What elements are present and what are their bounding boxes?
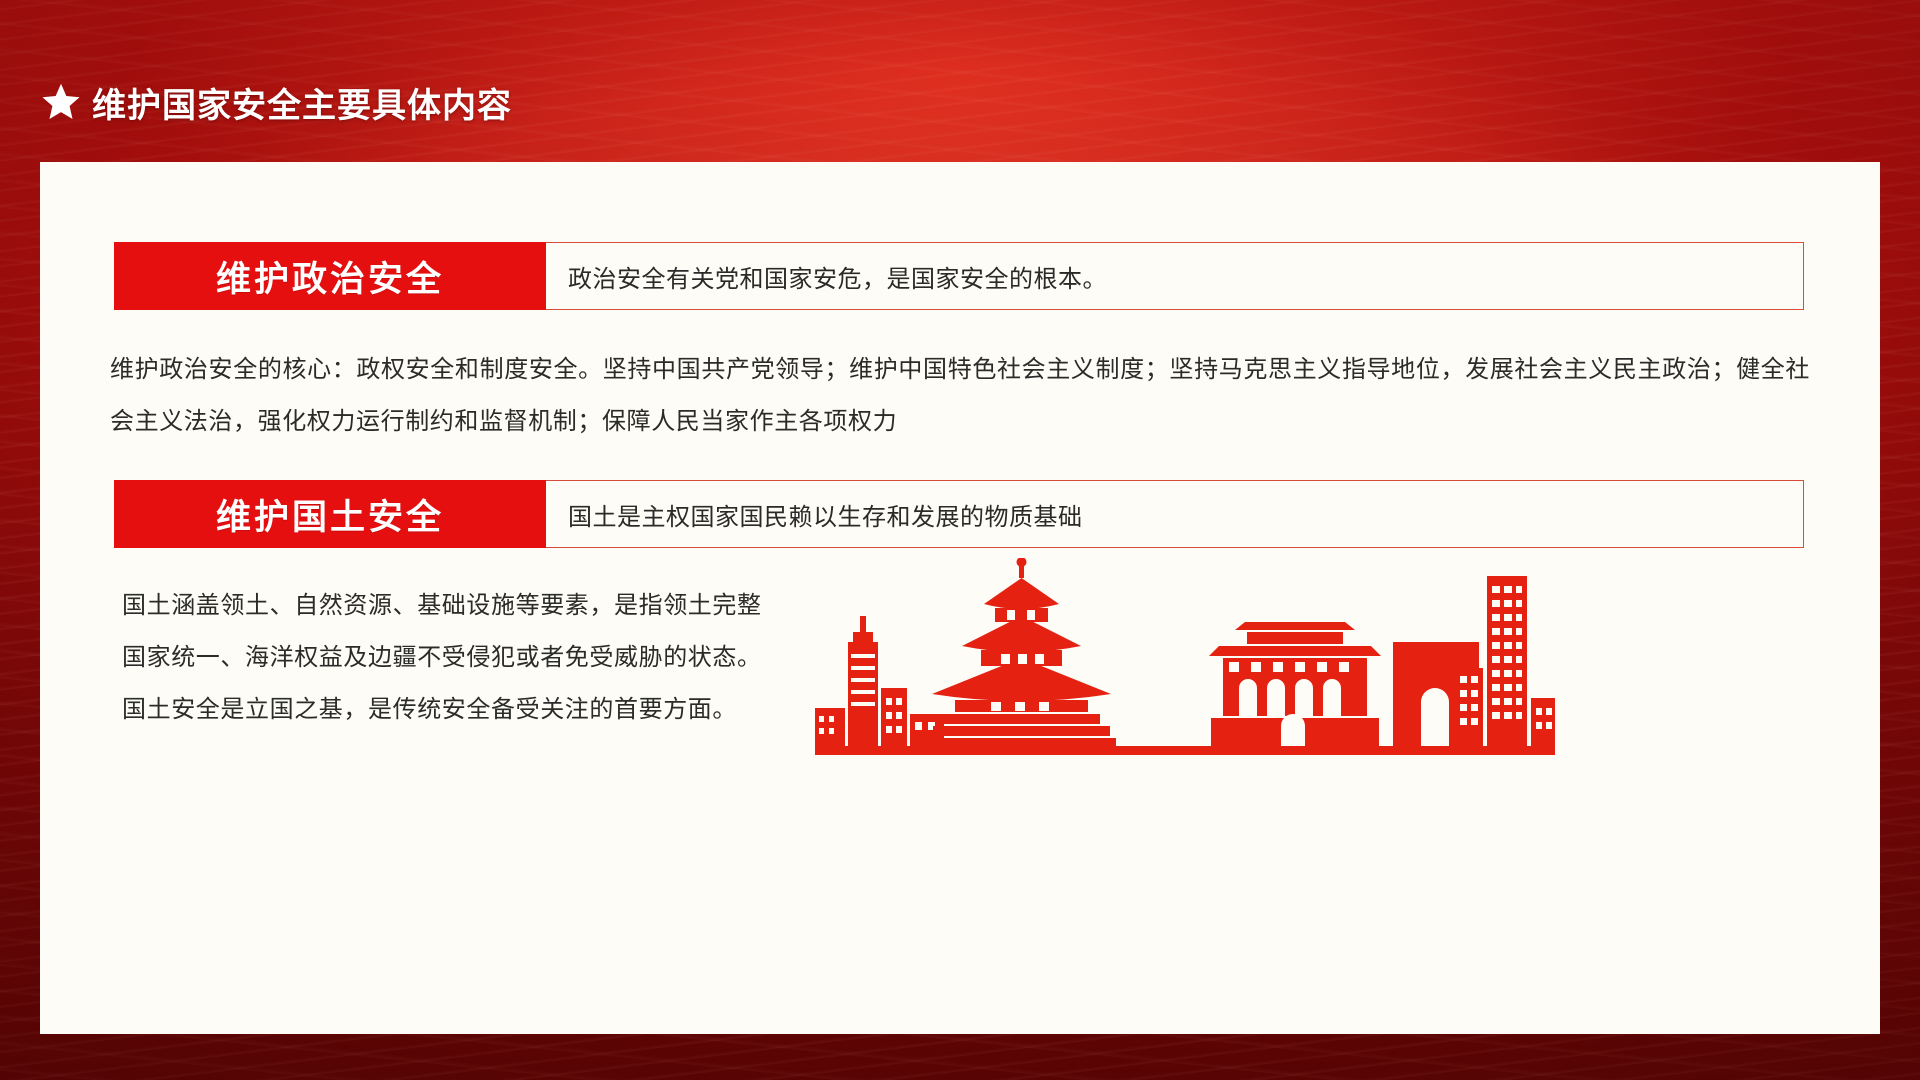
section-badge-territorial-security[interactable]: 维护国土安全 xyxy=(114,480,546,548)
section-political-security: 维护政治安全 政治安全有关党和国家安危，是国家安全的根本。 xyxy=(114,242,1804,310)
section-badge-political-security[interactable]: 维护政治安全 xyxy=(114,242,546,310)
section-banner-political-security: 政治安全有关党和国家安危，是国家安全的根本。 xyxy=(546,242,1804,310)
star-icon xyxy=(40,81,82,123)
section-banner-text: 国土是主权国家国民赖以生存和发展的物质基础 xyxy=(546,497,1083,532)
section-banner-territorial-security: 国土是主权国家国民赖以生存和发展的物质基础 xyxy=(546,480,1804,548)
slide-root: 维护国家安全主要具体内容 维护政治安全 政治安全有关党和国家安危，是国家安全的根… xyxy=(0,0,1920,1080)
section-territorial-security: 维护国土安全 国土是主权国家国民赖以生存和发展的物质基础 xyxy=(114,480,1804,548)
section-banner-text: 政治安全有关党和国家安危，是国家安全的根本。 xyxy=(546,259,1107,294)
beijing-skyline-silhouette-icon xyxy=(815,558,1555,788)
content-card: 维护政治安全 政治安全有关党和国家安危，是国家安全的根本。 维护政治安全的核心：… xyxy=(40,162,1880,1034)
slide-header: 维护国家安全主要具体内容 xyxy=(40,76,512,128)
page-title: 维护国家安全主要具体内容 xyxy=(92,78,512,127)
paragraph-political-security: 维护政治安全的核心：政权安全和制度安全。坚持中国共产党领导；维护中国特色社会主义… xyxy=(110,344,1810,448)
